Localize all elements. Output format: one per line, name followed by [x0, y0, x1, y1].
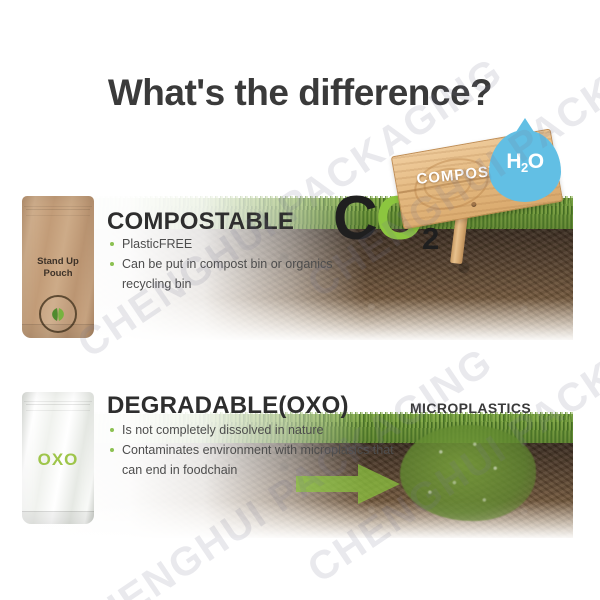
pouch-gusset — [22, 324, 94, 338]
bullets-degradable: Is not completely dissolved in nature Co… — [110, 420, 394, 480]
bullets-compostable: PlasticFREE Can be put in compost bin or… — [110, 234, 333, 294]
list-item: Contaminates environment with microplasi… — [110, 440, 394, 480]
heading-compostable: COMPOSTABLE — [107, 208, 294, 236]
microplastics-label: MICROPLASTICS — [410, 400, 531, 416]
bullet-text-continued: recycling bin — [122, 274, 333, 294]
bottom-fade-overlay — [28, 298, 573, 340]
pouch-label-line1: Stand Up — [37, 256, 79, 267]
droplet-label: H2O — [489, 150, 561, 175]
bullet-text: Is not completely dissolved in nature — [122, 423, 324, 437]
pouch-top-seam — [24, 395, 92, 403]
pouch-label: OXO — [22, 450, 94, 470]
h2o-droplet-icon: H2O — [489, 118, 561, 202]
bullet-text: Can be put in compost bin or organics — [122, 257, 333, 271]
pouch-zipper — [26, 404, 89, 411]
droplet-tip — [503, 118, 547, 152]
pouch-body: Stand Up Pouch — [22, 196, 94, 338]
bullet-text: PlasticFREE — [122, 237, 192, 251]
pouch-zipper — [26, 209, 89, 216]
heading-degradable: DEGRADABLE(OXO) — [107, 392, 349, 420]
list-item: Can be put in compost bin or organics re… — [110, 254, 333, 294]
h2o-subscript: 2 — [521, 160, 528, 175]
pouch-gusset — [22, 511, 94, 524]
stand-up-pouch-compostable: Stand Up Pouch — [22, 196, 94, 338]
pouch-body: OXO — [22, 392, 94, 524]
stand-up-pouch-oxo: OXO — [22, 392, 94, 524]
h2o-o: O — [528, 150, 544, 173]
microplastics-blob-icon — [400, 425, 536, 521]
leaf-icon — [48, 306, 68, 322]
list-item: Is not completely dissolved in nature — [110, 420, 394, 440]
pouch-label-line2: Pouch — [43, 268, 72, 279]
bullet-text: Contaminates environment with microplasi… — [122, 443, 394, 457]
page-title: What's the difference? — [0, 72, 600, 114]
h2o-h: H — [506, 150, 521, 173]
pouch-label: Stand Up Pouch — [22, 256, 94, 280]
pouch-top-seam — [24, 199, 92, 207]
list-item: PlasticFREE — [110, 234, 333, 254]
infographic-canvas: What's the difference? — [0, 0, 600, 600]
bullet-text-continued: can end in foodchain — [122, 460, 394, 480]
nail-icon — [471, 201, 477, 207]
co2-c-letter: C — [333, 184, 376, 253]
